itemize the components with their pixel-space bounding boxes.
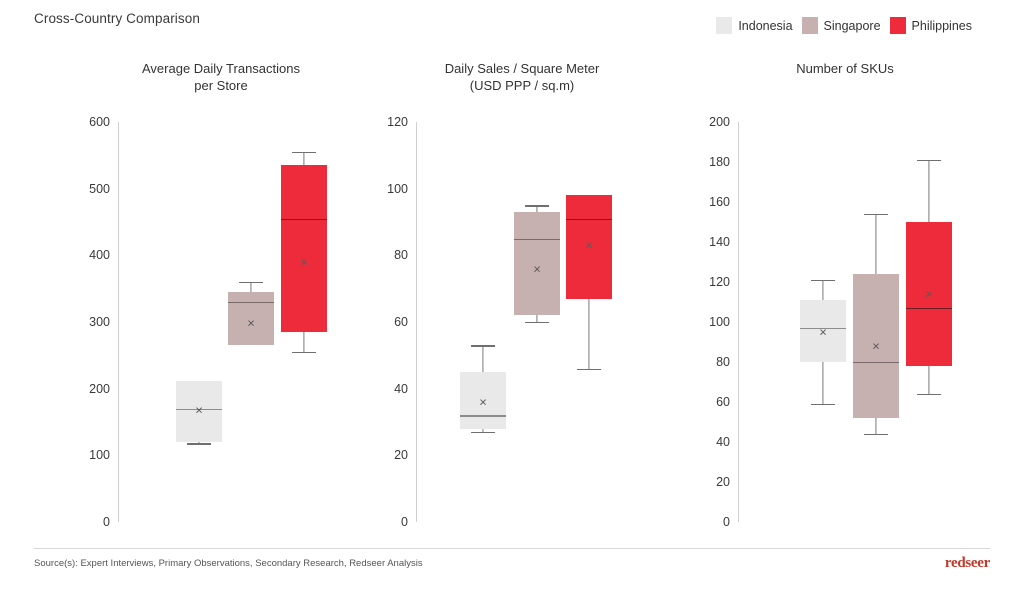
plot-area: 020406080100120××× [372,122,672,522]
median-line [281,219,327,220]
whisker-lower-cap [471,432,495,433]
whisker-lower-stem [928,366,929,394]
whisker-upper-stem [875,214,876,274]
y-axis-tick-label: 300 [76,315,110,329]
median-line [460,415,506,416]
boxplot-singapore[interactable]: × [228,122,274,522]
whisker-lower-cap [577,369,601,370]
y-axis-tick-label: 160 [690,195,730,209]
y-axis-tick-label: 20 [690,475,730,489]
whisker-lower-cap [187,443,211,444]
y-axis-tick-label: 0 [76,515,110,529]
legend-item-philippines[interactable]: Philippines [890,17,972,34]
median-line [228,302,274,303]
chart-title: Number of SKUs [690,60,1000,77]
y-axis-line [416,122,417,522]
y-axis-line [738,122,739,522]
mean-marker-x-icon: × [585,239,593,252]
whisker-lower-cap [525,322,549,323]
slide-root: Cross-Country Comparison IndonesiaSingap… [0,0,1024,610]
boxplot-indonesia[interactable]: × [176,122,222,522]
chart-title-line: per Store [76,77,366,94]
legend-label: Philippines [912,19,972,33]
page-title: Cross-Country Comparison [34,11,200,26]
whisker-upper-stem [250,282,251,292]
median-line [853,362,899,363]
whisker-upper-stem [303,152,304,165]
mean-marker-x-icon: × [479,396,487,409]
mean-marker-x-icon: × [195,404,203,417]
legend-item-singapore[interactable]: Singapore [802,17,881,34]
y-axis-tick-label: 60 [372,315,408,329]
whisker-upper-cap [864,214,888,215]
whisker-lower-stem [303,332,304,352]
median-line [514,239,560,240]
legend-item-indonesia[interactable]: Indonesia [716,17,792,34]
y-axis-tick-label: 600 [76,115,110,129]
chart-title-line: Number of SKUs [690,60,1000,77]
whisker-lower-cap [917,394,941,395]
mean-marker-x-icon: × [819,326,827,339]
y-axis-tick-label: 140 [690,235,730,249]
chart-title-line: (USD PPP / sq.m) [372,77,672,94]
whisker-lower-stem [822,362,823,404]
median-line [906,308,952,309]
chart-panel-average-daily-transactions: Average Daily Transactionsper Store01002… [76,60,366,530]
whisker-upper-stem [822,280,823,300]
plot-area: 020406080100120140160180200××× [690,122,1000,522]
source-note: Source(s): Expert Interviews, Primary Ob… [34,558,423,569]
y-axis-tick-label: 40 [690,435,730,449]
chart-title: Daily Sales / Square Meter(USD PPP / sq.… [372,60,672,94]
whisker-lower-stem [875,418,876,434]
y-axis-tick-label: 120 [372,115,408,129]
y-axis-tick-label: 180 [690,155,730,169]
chart-title: Average Daily Transactionsper Store [76,60,366,94]
y-axis-tick-label: 80 [690,355,730,369]
boxplot-singapore[interactable]: × [853,122,899,522]
legend-swatch-singapore [802,17,818,34]
mean-marker-x-icon: × [925,288,933,301]
whisker-lower-stem [588,299,589,369]
chart-title-line: Average Daily Transactions [76,60,366,77]
boxplot-philippines[interactable]: × [566,122,612,522]
whisker-lower-cap [864,434,888,435]
legend-swatch-philippines [890,17,906,34]
y-axis-tick-label: 100 [76,448,110,462]
boxplot-singapore[interactable]: × [514,122,560,522]
boxplot-philippines[interactable]: × [906,122,952,522]
legend-label: Indonesia [738,19,792,33]
legend-swatch-indonesia [716,17,732,34]
plot-area: 0100200300400500600××× [76,122,366,522]
y-axis-tick-label: 40 [372,382,408,396]
boxplot-indonesia[interactable]: × [460,122,506,522]
legend-label: Singapore [824,19,881,33]
y-axis-tick-label: 80 [372,248,408,262]
y-axis-tick-label: 400 [76,248,110,262]
y-axis-tick-label: 500 [76,182,110,196]
y-axis-tick-label: 200 [690,115,730,129]
y-axis-tick-label: 100 [690,315,730,329]
y-axis-tick-label: 0 [372,515,408,529]
y-axis-tick-label: 200 [76,382,110,396]
median-line [566,219,612,220]
whisker-upper-cap [917,160,941,161]
box-rect [281,165,327,332]
whisker-upper-cap [292,152,316,153]
boxplot-philippines[interactable]: × [281,122,327,522]
chart-panel-daily-sales-per-square-meter: Daily Sales / Square Meter(USD PPP / sq.… [372,60,672,530]
whisker-lower-cap [292,352,316,353]
legend: IndonesiaSingaporePhilippines [716,17,972,34]
whisker-upper-cap [471,345,495,346]
y-axis-tick-label: 60 [690,395,730,409]
whisker-upper-cap [811,280,835,281]
footer-divider [34,548,990,549]
y-axis-tick-label: 120 [690,275,730,289]
mean-marker-x-icon: × [533,262,541,275]
whisker-lower-cap [811,404,835,405]
whisker-upper-cap [525,205,549,206]
boxplot-indonesia[interactable]: × [800,122,846,522]
whisker-upper-stem [928,160,929,222]
chart-title-line: Daily Sales / Square Meter [372,60,672,77]
y-axis-tick-label: 20 [372,448,408,462]
whisker-lower-stem [536,315,537,322]
mean-marker-x-icon: × [247,317,255,330]
chart-panel-number-of-skus: Number of SKUs02040608010012014016018020… [690,60,1000,530]
redseer-logo: redseer [945,555,990,572]
mean-marker-x-icon: × [872,340,880,353]
y-axis-line [118,122,119,522]
y-axis-tick-label: 100 [372,182,408,196]
y-axis-tick-label: 0 [690,515,730,529]
whisker-upper-stem [482,345,483,372]
mean-marker-x-icon: × [300,256,308,269]
whisker-upper-cap [239,282,263,283]
